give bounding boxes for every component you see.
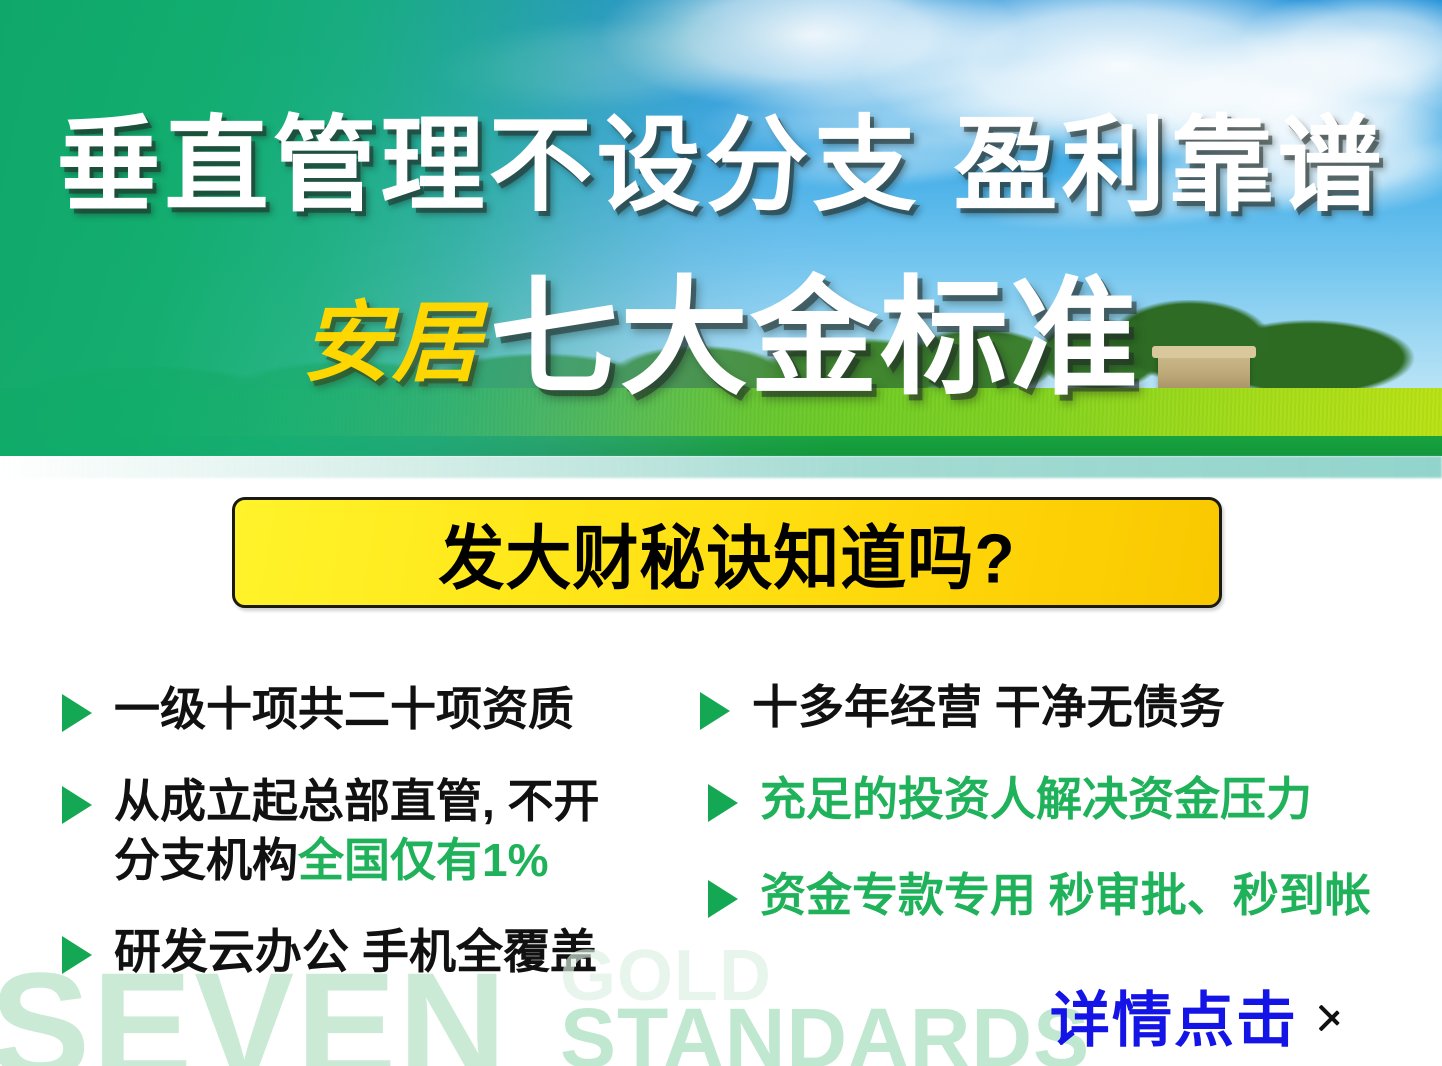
hero-drop-shadow [0, 456, 1442, 478]
list-item: 资金专款专用 秒审批、秒到帐 [708, 866, 1371, 925]
list-item-label: 充足的投资人解决资金压力 [760, 770, 1312, 829]
list-item-line1: 从成立起总部直管, 不开 [114, 775, 600, 827]
list-item-label: 一级十项共二十项资质 [114, 680, 574, 739]
list-item-label: 研发云办公 手机全覆盖 [114, 922, 597, 982]
triangle-bullet-icon [708, 880, 738, 918]
watermark-standards: STANDARDS [560, 996, 1090, 1066]
details-cta-label: 详情点击 [1050, 972, 1298, 1059]
hero-headline-primary: 垂直管理不设分支 盈利靠谱 [0, 114, 1442, 218]
list-item-label: 从成立起总部直管, 不开 分支机构全国仅有1% [114, 772, 600, 890]
hero-headline-secondary: 安居 七大金标准 [0, 272, 1442, 403]
triangle-bullet-icon [62, 936, 92, 974]
promo-banner-page: 垂直管理不设分支 盈利靠谱 安居 七大金标准 发大财秘诀知道吗? 一级十项共二十… [0, 0, 1442, 1066]
hero-brand-label: 安居 [302, 272, 482, 399]
list-item-label: 十多年经营 干净无债务 [752, 678, 1225, 737]
list-item: 十多年经营 干净无债务 [700, 678, 1225, 737]
hero-section: 垂直管理不设分支 盈利靠谱 安居 七大金标准 [0, 0, 1442, 456]
question-banner-text: 发大财秘诀知道吗? [438, 502, 1015, 604]
triangle-bullet-icon [708, 784, 738, 822]
list-item: 从成立起总部直管, 不开 分支机构全国仅有1% [62, 772, 600, 890]
chevron-right-icon [1316, 992, 1346, 1040]
list-item: 研发云办公 手机全覆盖 [62, 922, 597, 982]
list-item: 充足的投资人解决资金压力 [708, 770, 1312, 829]
list-item-line2-plain: 分支机构 [114, 834, 298, 886]
hero-headline-big: 七大金标准 [490, 275, 1140, 403]
details-cta-link[interactable]: 详情点击 [1050, 972, 1346, 1059]
list-item: 一级十项共二十项资质 [62, 680, 574, 739]
list-item-line2-highlight: 全国仅有1% [298, 834, 548, 886]
triangle-bullet-icon [62, 786, 92, 824]
question-banner[interactable]: 发大财秘诀知道吗? [232, 497, 1222, 608]
list-item-label: 资金专款专用 秒审批、秒到帐 [760, 866, 1371, 925]
triangle-bullet-icon [700, 692, 730, 730]
triangle-bullet-icon [62, 694, 92, 732]
